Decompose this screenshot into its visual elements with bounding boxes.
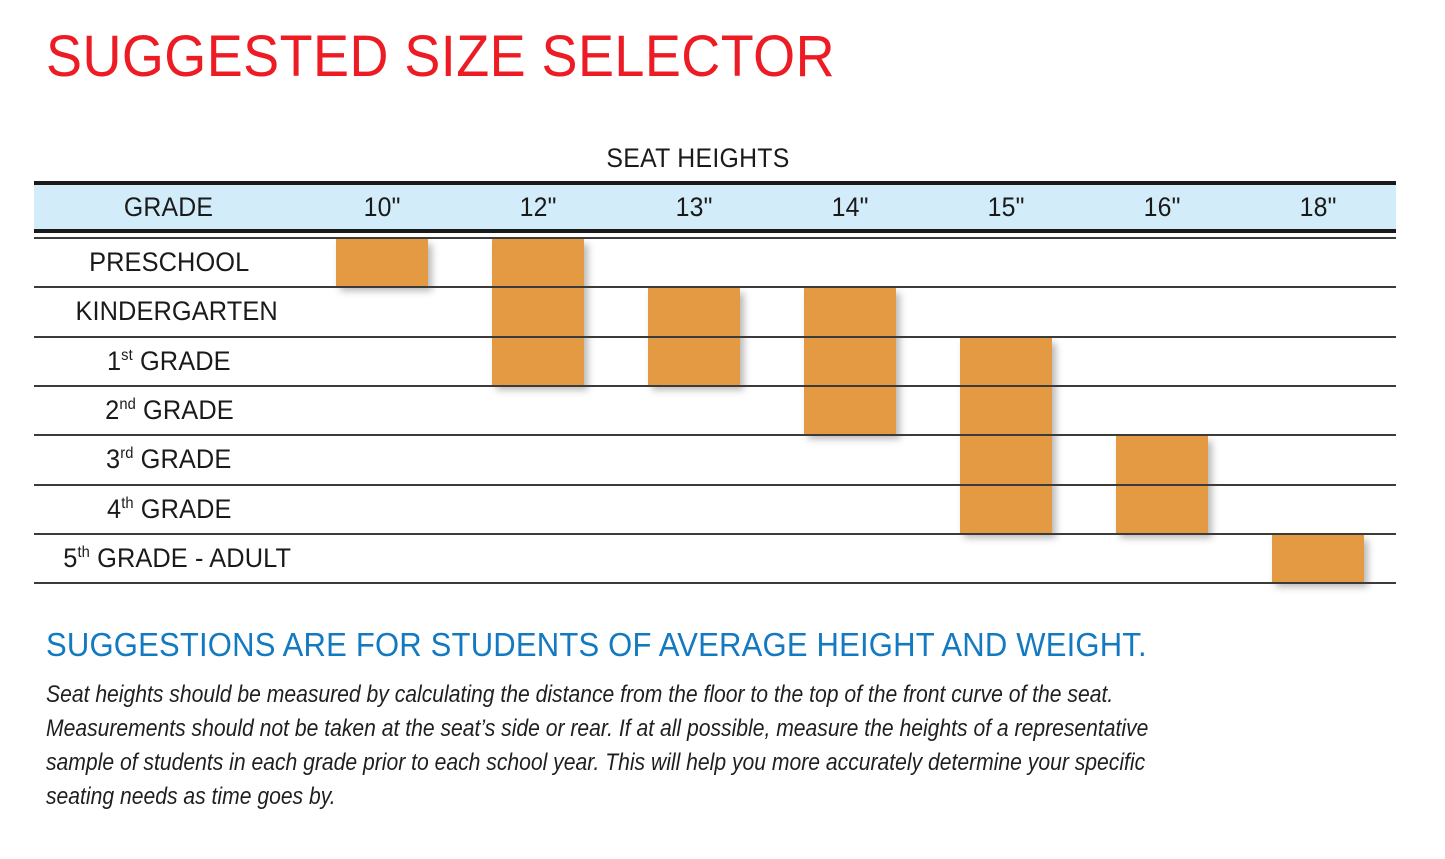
paragraph-line: Seat heights should be measured by calcu… — [46, 678, 1225, 712]
row-label-6: 5th GRADE - ADULT — [34, 534, 320, 582]
seat-heights-caption: SEAT HEIGHTS — [56, 142, 1340, 174]
header-cell-label: 14" — [831, 185, 868, 229]
row-label-0: PRESCHOOL — [34, 238, 304, 286]
grade-label: 5th GRADE - ADULT — [63, 534, 291, 582]
seat-height-bar-12in — [492, 239, 584, 385]
row-label-2: 1st GRADE — [34, 337, 304, 385]
header-cell-grade: GRADE — [34, 185, 304, 229]
table-header-bottom-rule — [34, 229, 1396, 233]
header-cell-seat-height-7: 18" — [1240, 185, 1396, 229]
header-cell-seat-height-2: 12" — [460, 185, 616, 229]
grade-label: 4th GRADE — [107, 485, 232, 533]
average-height-weight-subtitle: SUGGESTIONS ARE FOR STUDENTS OF AVERAGE … — [46, 626, 1147, 664]
header-cell-label: 10" — [363, 185, 400, 229]
header-cell-seat-height-4: 14" — [772, 185, 928, 229]
header-cell-seat-height-1: 10" — [304, 185, 460, 229]
header-cell-seat-height-3: 13" — [616, 185, 772, 229]
seat-height-bar-10in — [336, 239, 428, 286]
size-selector-page: SUGGESTED SIZE SELECTOR SEAT HEIGHTS GRA… — [0, 0, 1445, 859]
grade-label: 2nd GRADE — [105, 386, 234, 434]
grade-label: PRESCHOOL — [89, 238, 249, 286]
measurement-instructions-paragraph: Seat heights should be measured by calcu… — [46, 678, 1225, 814]
size-selector-table: GRADE10"12"13"14"15"16"18" PRESCHOOLKIND… — [34, 181, 1396, 589]
row-label-1: KINDERGARTEN — [34, 287, 320, 335]
grade-label: KINDERGARTEN — [76, 287, 278, 335]
row-label-4: 3rd GRADE — [34, 435, 304, 483]
header-cell-label: 16" — [1143, 185, 1180, 229]
header-cell-label: 13" — [675, 185, 712, 229]
header-cell-label: 15" — [987, 185, 1024, 229]
header-cell-label: 12" — [519, 185, 556, 229]
seat-height-bar-14in — [804, 288, 896, 434]
paragraph-line: seating needs as time goes by. — [46, 780, 1225, 814]
header-cell-seat-height-5: 15" — [928, 185, 1084, 229]
paragraph-line: Measurements should not be taken at the … — [46, 712, 1225, 746]
row-separator — [34, 582, 1396, 584]
grade-label: 1st GRADE — [107, 337, 231, 385]
row-label-5: 4th GRADE — [34, 485, 304, 533]
grade-label: 3rd GRADE — [106, 435, 231, 483]
seat-height-bar-18in — [1272, 535, 1364, 582]
table-body: PRESCHOOLKINDERGARTEN1st GRADE2nd GRADE3… — [34, 237, 1396, 589]
row-label-3: 2nd GRADE — [34, 386, 304, 434]
header-cell-label: 18" — [1299, 185, 1336, 229]
page-title: SUGGESTED SIZE SELECTOR — [46, 26, 835, 88]
header-cell-label: GRADE — [124, 185, 213, 229]
paragraph-line: sample of students in each grade prior t… — [46, 746, 1225, 780]
header-cell-seat-height-6: 16" — [1084, 185, 1240, 229]
